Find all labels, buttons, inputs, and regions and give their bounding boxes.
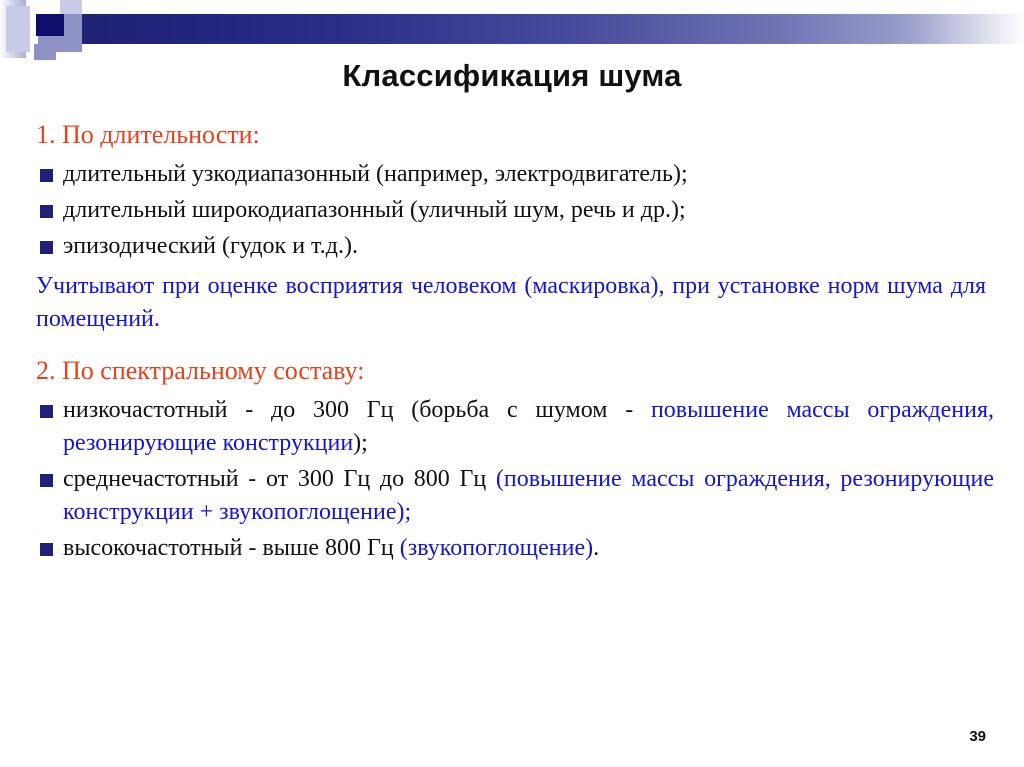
slide-content: 1. По длительности: длительный узкодиапа… bbox=[36, 118, 994, 568]
bullet-text-rich: низкочастотный - до 300 Гц (борьба с шум… bbox=[63, 394, 994, 460]
square-bullet-icon bbox=[40, 241, 53, 254]
square-bullet-icon bbox=[40, 205, 53, 218]
list-item: длительный широкодиапазонный (уличный шу… bbox=[36, 194, 994, 227]
deco-square-pale-2 bbox=[60, 0, 82, 14]
section-heading-spectrum: 2. По спектральному составу: bbox=[36, 354, 994, 388]
list-item: длительный узкодиапазонный (например, эл… bbox=[36, 158, 994, 191]
section-heading-duration: 1. По длительности: bbox=[36, 118, 994, 152]
text-run-black: низкочастотный - до 300 Гц (борьба с шум… bbox=[63, 397, 651, 423]
deco-square-pale-1 bbox=[6, 6, 30, 52]
square-bullet-icon bbox=[40, 169, 53, 182]
text-run-black: . bbox=[593, 535, 599, 561]
list-item: эпизодический (гудок и т.д.). bbox=[36, 230, 994, 263]
text-run-blue: (звукопоглощение) bbox=[400, 535, 593, 561]
text-run-black: высокочастотный - выше 800 Гц bbox=[63, 535, 400, 561]
square-bullet-icon bbox=[40, 474, 53, 487]
list-item: среднечастотный - от 300 Гц до 800 Гц (п… bbox=[36, 463, 994, 529]
header-decoration bbox=[0, 0, 1024, 58]
square-bullet-icon bbox=[40, 405, 53, 418]
deco-square-mid-3 bbox=[60, 36, 82, 52]
bullet-text-rich: высокочастотный - выше 800 Гц (звукопогл… bbox=[63, 532, 994, 565]
text-run-black: среднечастотный - от 300 Гц до 800 Гц bbox=[63, 466, 496, 492]
section-note-duration: Учитывают при оценке восприятия человеко… bbox=[36, 270, 986, 336]
header-gradient-bar bbox=[60, 14, 1024, 44]
text-run-black: ); bbox=[353, 430, 368, 456]
page-number: 39 bbox=[969, 728, 986, 745]
bullet-text: длительный широкодиапазонный (уличный шу… bbox=[63, 194, 994, 227]
bullet-text: эпизодический (гудок и т.д.). bbox=[63, 230, 994, 263]
list-item: низкочастотный - до 300 Гц (борьба с шум… bbox=[36, 394, 994, 460]
deco-square-navy-3 bbox=[38, 16, 62, 34]
list-item: высокочастотный - выше 800 Гц (звукопогл… bbox=[36, 532, 994, 565]
bullet-text: длительный узкодиапазонный (например, эл… bbox=[63, 158, 994, 191]
slide-title: Классификация шума bbox=[0, 58, 1024, 94]
bullet-text-rich: среднечастотный - от 300 Гц до 800 Гц (п… bbox=[63, 463, 994, 529]
square-bullet-icon bbox=[40, 543, 53, 556]
